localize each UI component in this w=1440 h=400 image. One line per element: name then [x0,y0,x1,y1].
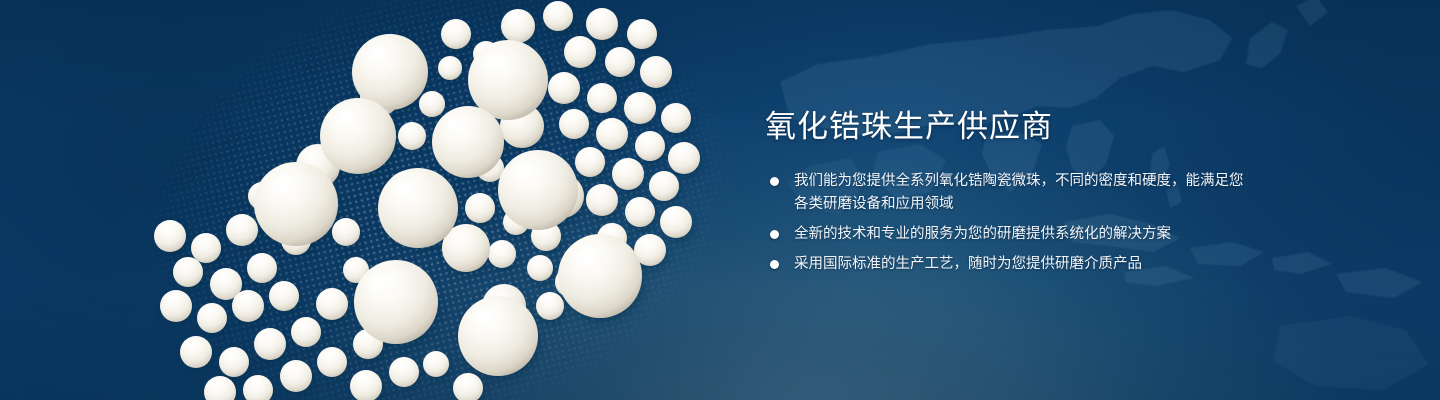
feature-list-item: 我们能为您提供全系列氧化锆陶瓷微珠，不同的密度和硬度，能满足您各类研磨设备和应用… [768,170,1245,216]
bullet-dot-icon [770,260,779,269]
banner-copy-block: 氧化锆珠生产供应商 我们能为您提供全系列氧化锆陶瓷微珠，不同的密度和硬度，能满足… [765,108,1245,276]
bullet-dot-icon [770,230,779,239]
feature-text: 我们能为您提供全系列氧化锆陶瓷微珠，不同的密度和硬度，能满足您各类研磨设备和应用… [794,173,1244,212]
banner-feature-list: 我们能为您提供全系列氧化锆陶瓷微珠，不同的密度和硬度，能满足您各类研磨设备和应用… [768,170,1245,276]
feature-list-item: 全新的技术和专业的服务为您的研磨提供系统化的解决方案 [768,223,1245,246]
banner-headline: 氧化锆珠生产供应商 [765,108,1245,146]
feature-list-item: 采用国际标准的生产工艺，随时为您提供研磨介质产品 [768,253,1245,276]
feature-text: 采用国际标准的生产工艺，随时为您提供研磨介质产品 [794,256,1142,272]
feature-text: 全新的技术和专业的服务为您的研磨提供系统化的解决方案 [794,226,1171,242]
bullet-dot-icon [770,177,779,186]
zirconia-beads-image [150,0,710,400]
hero-banner: 氧化锆珠生产供应商 我们能为您提供全系列氧化锆陶瓷微珠，不同的密度和硬度，能满足… [0,0,1440,400]
